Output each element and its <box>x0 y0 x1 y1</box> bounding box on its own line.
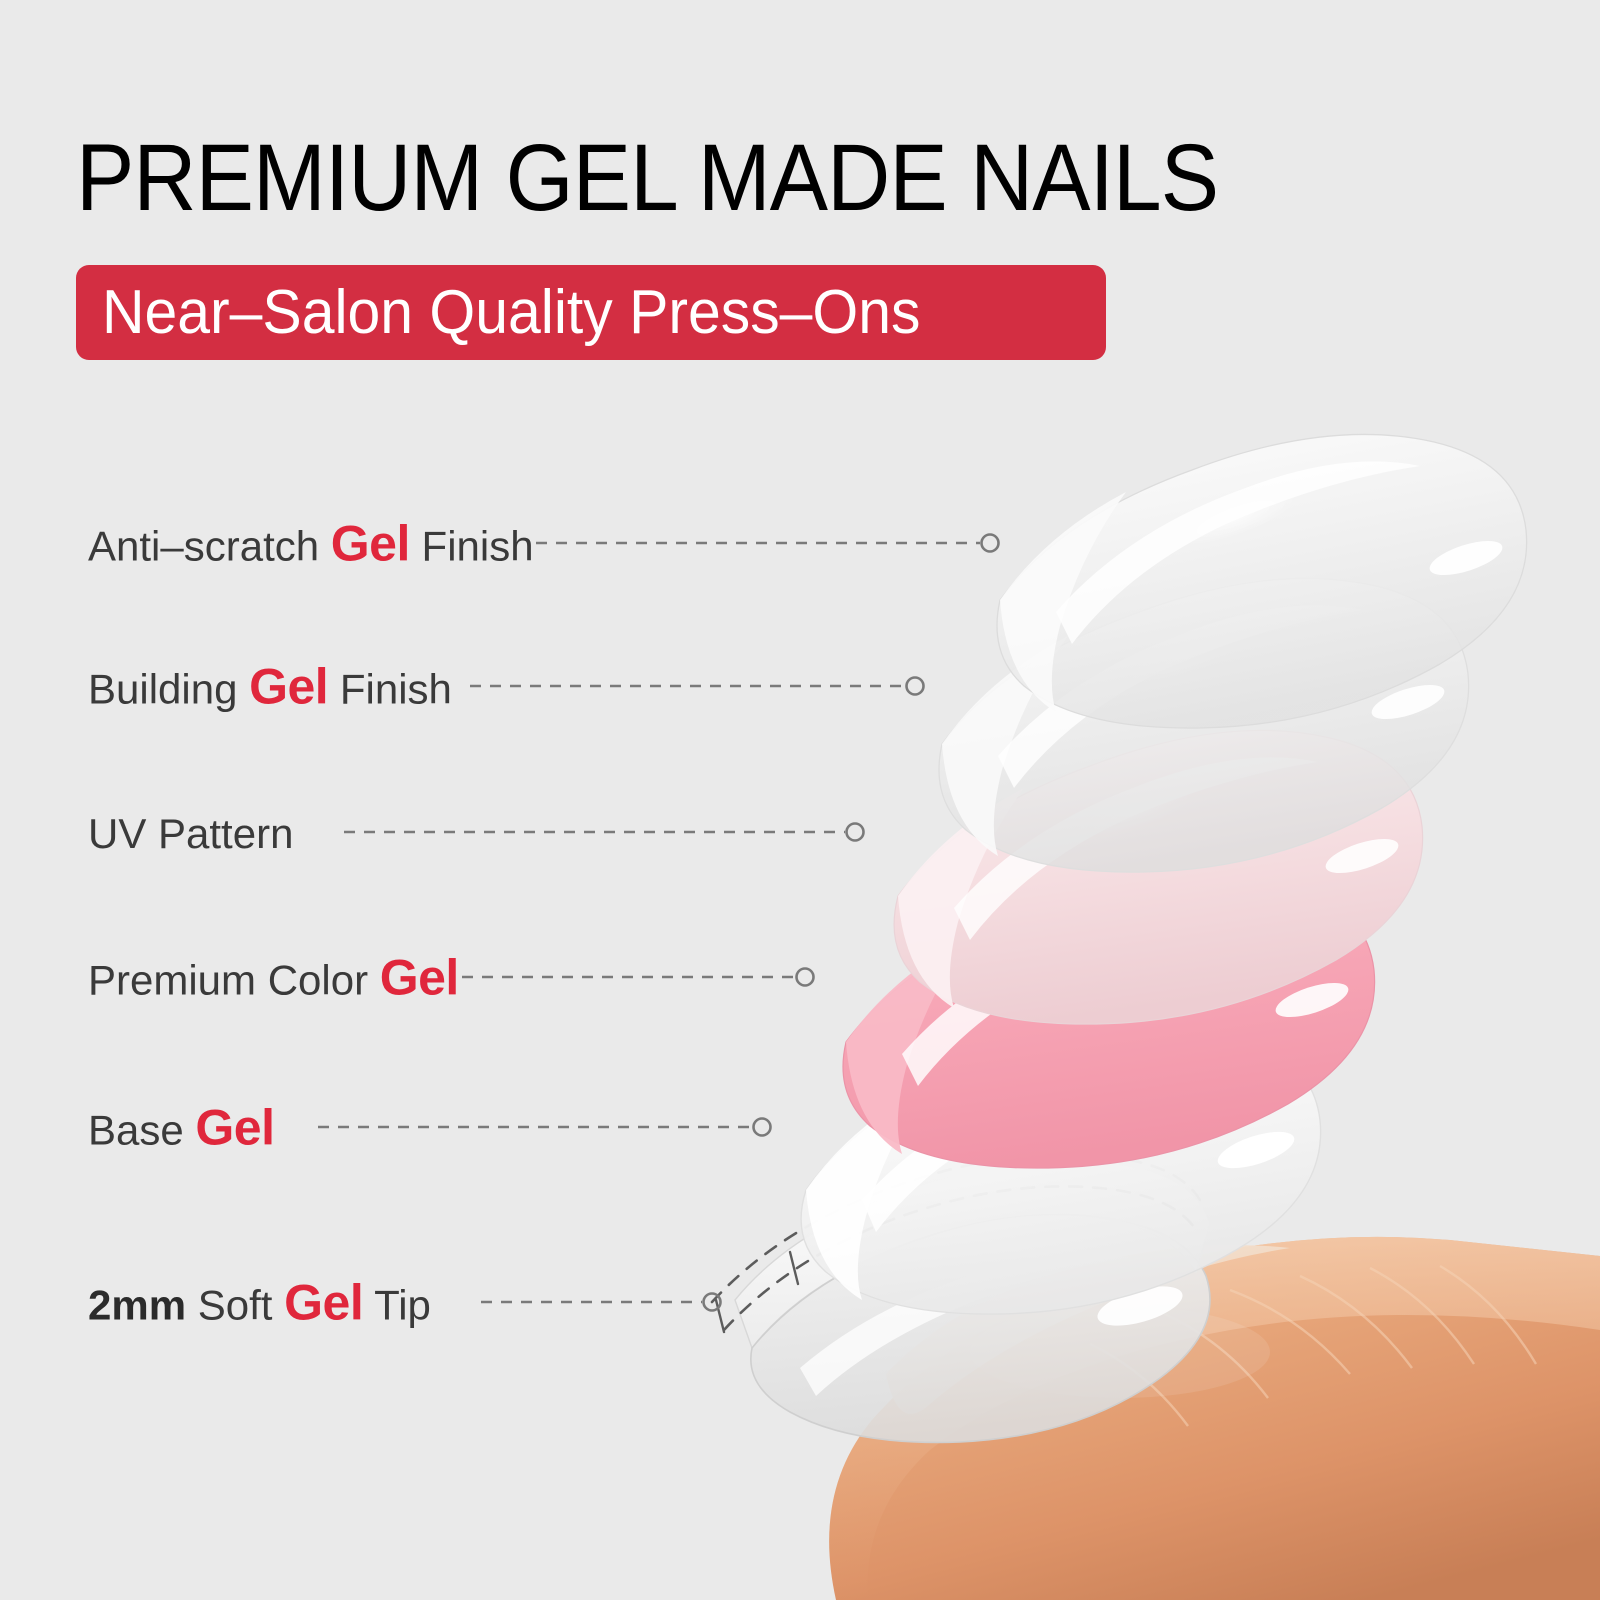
leader-endpoint-base-gel <box>754 1119 771 1136</box>
leader-endpoint-building-gel-finish <box>907 678 924 695</box>
layer-label-text: Base Gel <box>88 1106 275 1153</box>
layer-label-text: Premium Color Gel <box>88 956 459 1003</box>
layer-label-text: 2mm Soft Gel Tip <box>88 1281 431 1328</box>
subtitle-badge-label: Near–Salon Quality Press–Ons <box>102 278 920 348</box>
subtitle-badge: Near–Salon Quality Press–Ons <box>76 265 1106 360</box>
label-part-regular: Soft <box>186 1282 284 1329</box>
leader-endpoint-anti-scratch-gel-finish <box>982 535 999 552</box>
label-part-gel: Gel <box>284 1275 363 1331</box>
page-title: PREMIUM GEL MADE NAILS <box>76 126 1218 230</box>
leader-endpoint-uv-pattern <box>847 824 864 841</box>
label-part-regular: Building <box>88 666 249 713</box>
label-part-regular: UV Pattern <box>88 810 293 857</box>
label-part-gel: Gel <box>331 516 410 572</box>
label-part-regular: Finish <box>410 523 534 570</box>
label-part-regular: Base <box>88 1107 195 1154</box>
label-part-gel: Gel <box>195 1100 274 1156</box>
nail-layer-stack-illustration <box>0 0 1600 1600</box>
label-part-regular: Tip <box>363 1282 431 1329</box>
label-part-gel: Gel <box>380 950 459 1006</box>
label-part-gel: Gel <box>249 659 328 715</box>
label-part-bold: 2mm <box>88 1282 186 1329</box>
layer-label-text: UV Pattern <box>88 812 293 856</box>
layer-label-text: Building Gel Finish <box>88 665 452 712</box>
layer-label-text: Anti–scratch Gel Finish <box>88 522 534 569</box>
label-part-regular: Anti–scratch <box>88 523 331 570</box>
label-part-regular: Finish <box>328 666 452 713</box>
label-part-regular: Premium Color <box>88 957 380 1004</box>
infographic-root: PREMIUM GEL MADE NAILS Near–Salon Qualit… <box>0 0 1600 1600</box>
leader-endpoint-premium-color-gel <box>797 969 814 986</box>
